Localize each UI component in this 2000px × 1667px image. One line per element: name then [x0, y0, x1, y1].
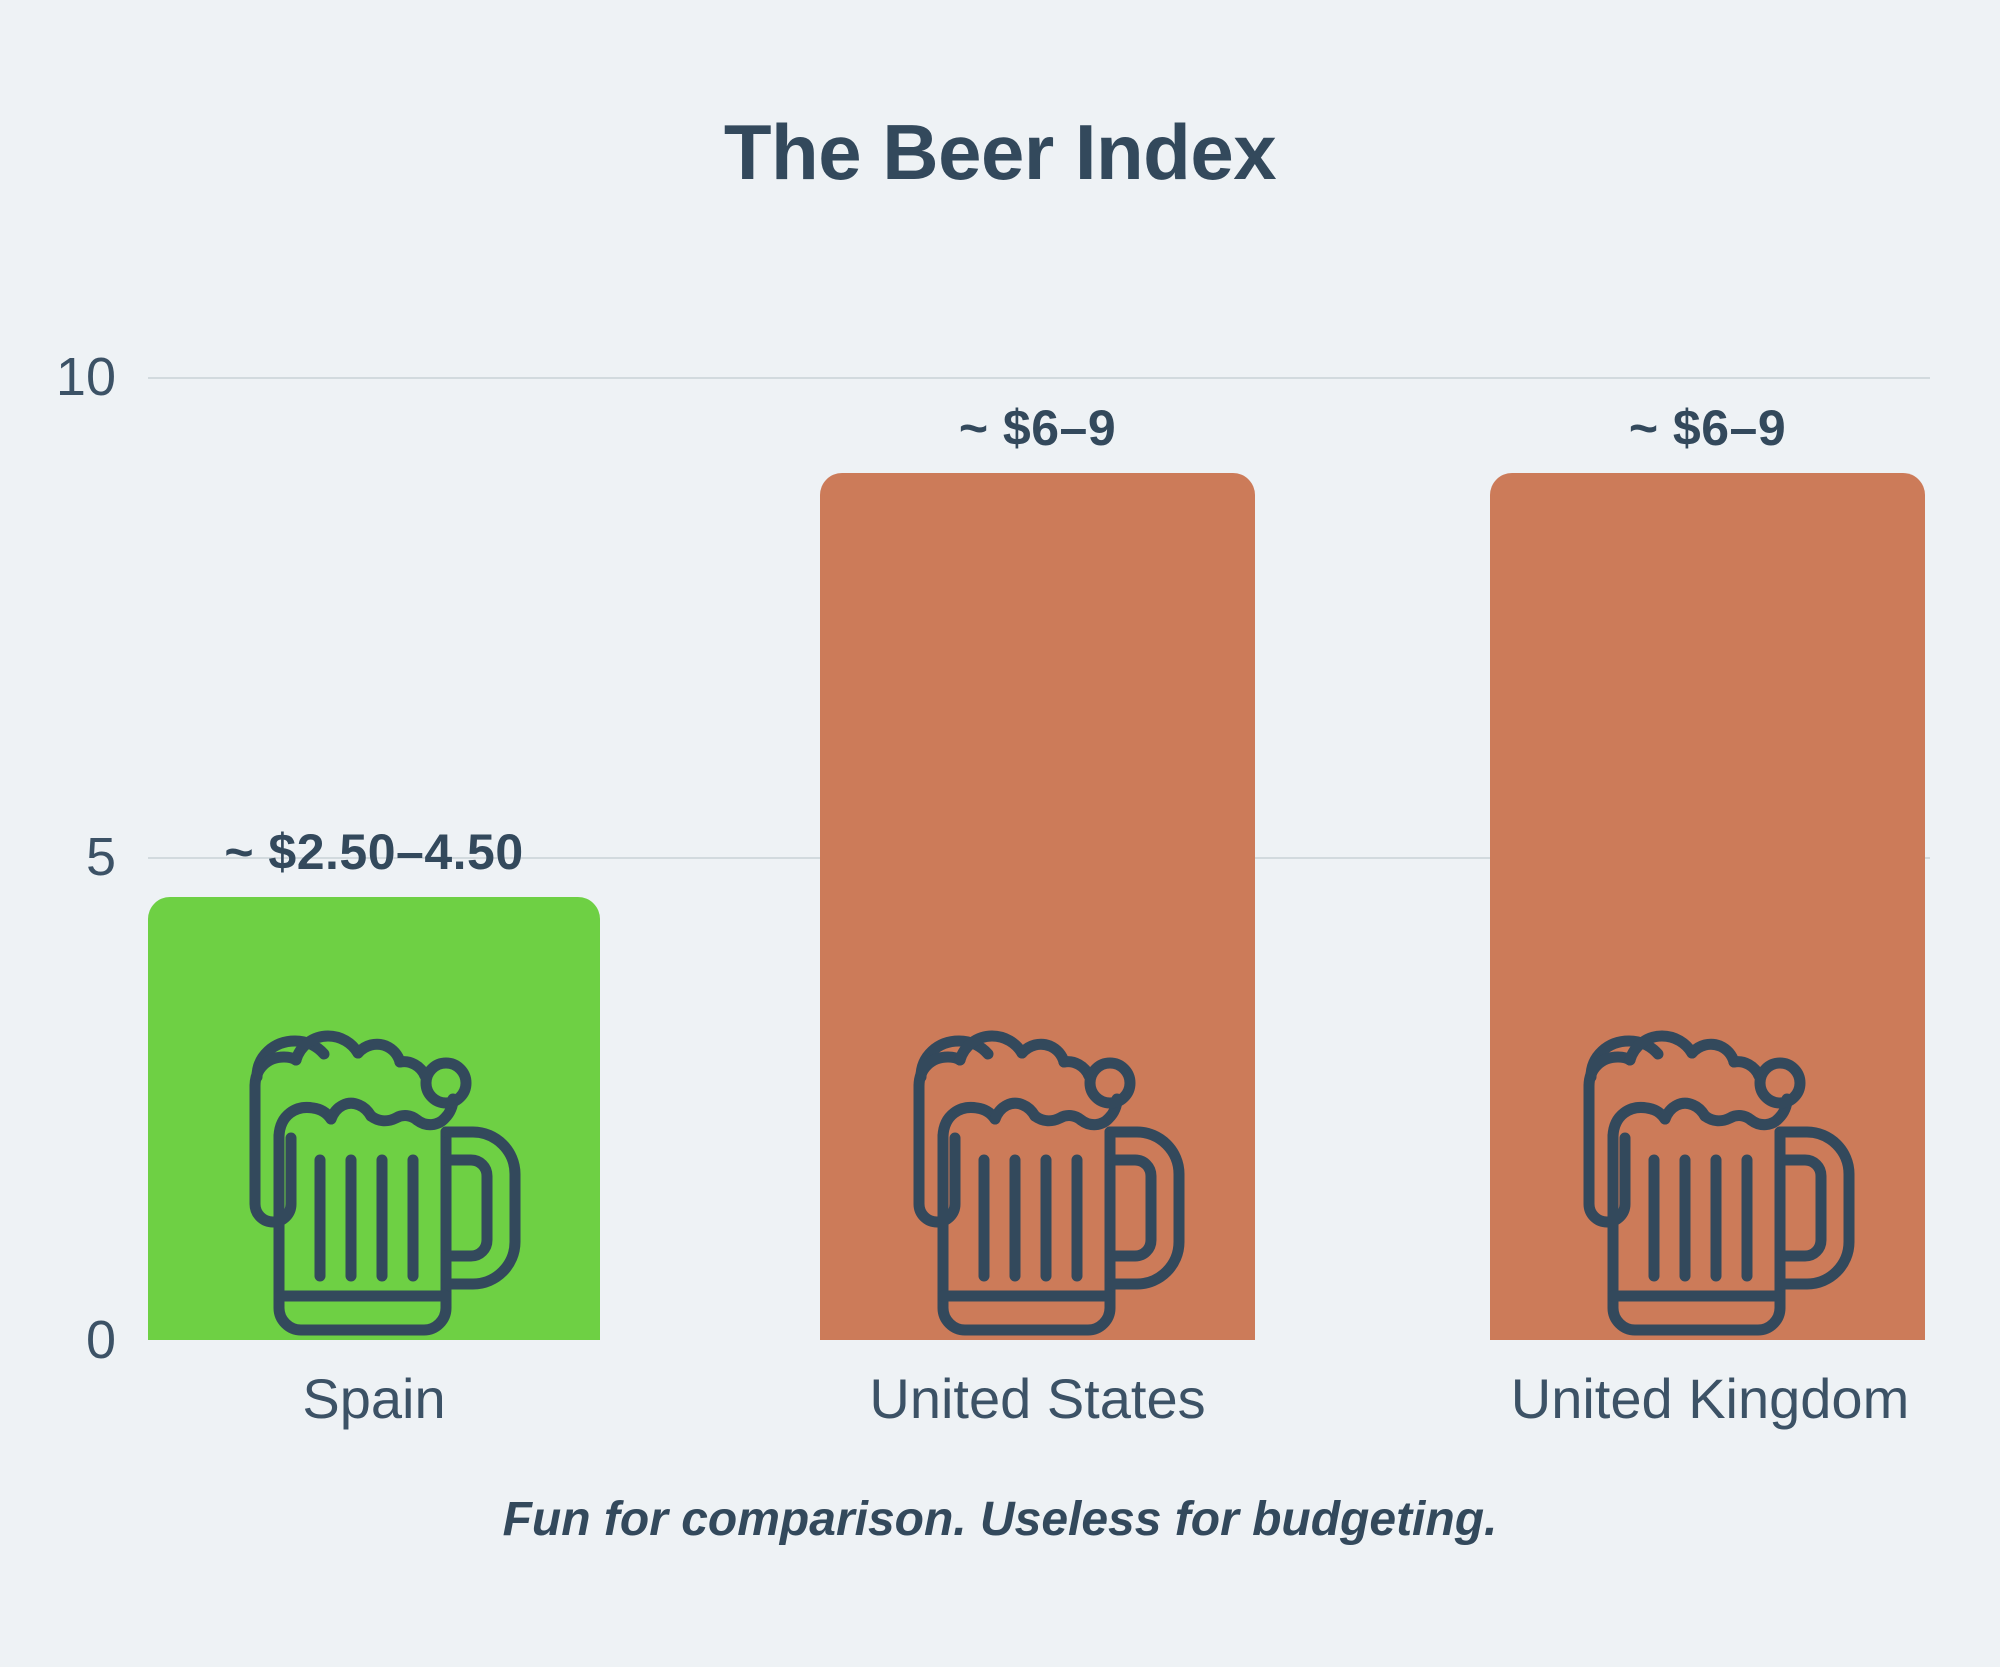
plot-area: 10 5 0	[0, 0, 2000, 1667]
y-axis-tick-0: 0	[40, 1313, 116, 1367]
bar-united-kingdom[interactable]	[1490, 473, 1925, 1340]
data-label-united-states: ~ $6–9	[820, 403, 1255, 453]
beer-mug-icon	[1558, 1008, 1858, 1340]
data-label-united-kingdom: ~ $6–9	[1490, 403, 1925, 453]
y-axis-tick-10: 10	[40, 350, 116, 404]
bar-spain[interactable]	[148, 897, 600, 1340]
beer-index-chart: The Beer Index 10 5 0	[0, 0, 2000, 1667]
y-axis-tick-5: 5	[40, 830, 116, 884]
x-axis-label-united-kingdom: United Kingdom	[1430, 1368, 1990, 1430]
gridline-10	[148, 377, 1930, 379]
x-axis-label-spain: Spain	[148, 1368, 600, 1430]
data-label-spain: ~ $2.50–4.50	[148, 827, 600, 877]
beer-mug-icon	[888, 1008, 1188, 1340]
x-axis-label-united-states: United States	[790, 1368, 1285, 1430]
bar-united-states[interactable]	[820, 473, 1255, 1340]
chart-caption: Fun for comparison. Useless for budgetin…	[0, 1494, 2000, 1547]
beer-mug-icon	[224, 1008, 524, 1340]
